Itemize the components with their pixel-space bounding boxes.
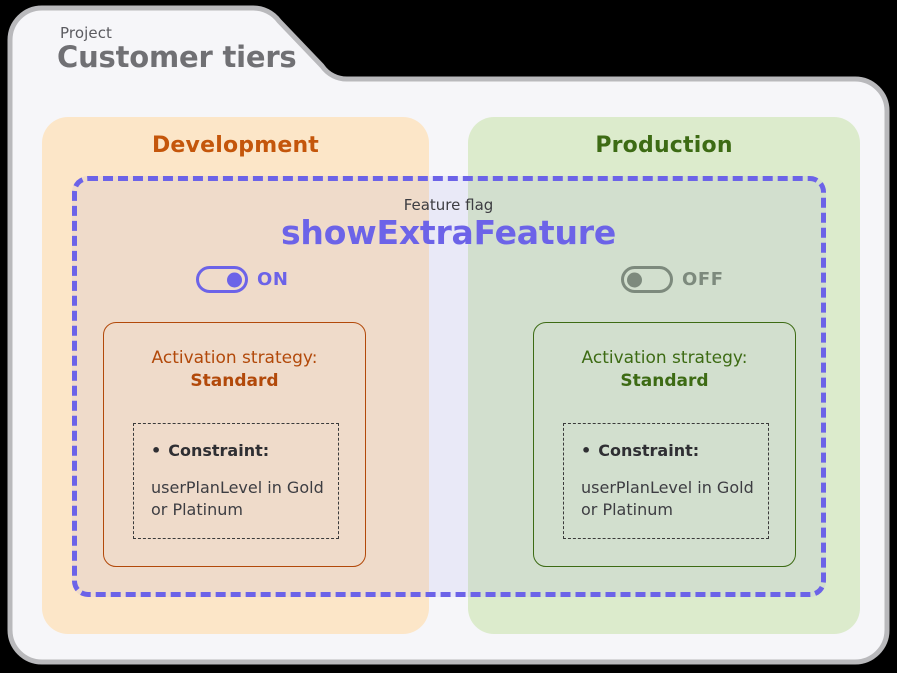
constraint-title-production: •Constraint: — [581, 441, 699, 460]
toggle-switch-on-icon[interactable] — [196, 266, 248, 293]
toggle-knob — [227, 272, 242, 287]
activation-strategy-production[interactable]: Activation strategy: Standard •Constrain… — [533, 322, 796, 567]
constraint-box-development: •Constraint: userPlanLevel in Gold or Pl… — [133, 423, 339, 539]
environment-title-development: Development — [42, 133, 429, 158]
activation-strategy-development[interactable]: Activation strategy: Standard •Constrain… — [103, 322, 366, 567]
constraint-label: Constraint: — [598, 441, 699, 460]
constraint-title-development: •Constraint: — [151, 441, 269, 460]
page-title: Customer tiers — [57, 40, 297, 74]
strategy-value: Standard — [620, 371, 708, 391]
strategy-heading-development: Activation strategy: Standard — [104, 347, 365, 393]
toggle-switch-off-icon[interactable] — [621, 266, 673, 293]
strategy-heading-label: Activation strategy: — [582, 348, 748, 368]
bullet-icon: • — [151, 441, 161, 460]
toggle-knob — [627, 272, 642, 287]
constraint-text-development: userPlanLevel in Gold or Platinum — [151, 477, 331, 521]
feature-toggle-development[interactable]: ON — [196, 266, 289, 293]
strategy-heading-label: Activation strategy: — [152, 348, 318, 368]
feature-flag-name: showExtraFeature — [0, 213, 897, 252]
toggle-label-development: ON — [257, 269, 289, 290]
constraint-label: Constraint: — [168, 441, 269, 460]
constraint-text-production: userPlanLevel in Gold or Platinum — [581, 477, 761, 521]
strategy-value: Standard — [190, 371, 278, 391]
diagram-canvas: Project Customer tiers Development Produ… — [0, 0, 897, 673]
constraint-box-production: •Constraint: userPlanLevel in Gold or Pl… — [563, 423, 769, 539]
bullet-icon: • — [581, 441, 591, 460]
environment-title-production: Production — [468, 133, 860, 158]
feature-flag-kicker: Feature flag — [0, 196, 897, 214]
feature-toggle-production[interactable]: OFF — [621, 266, 724, 293]
toggle-label-production: OFF — [682, 269, 724, 290]
strategy-heading-production: Activation strategy: Standard — [534, 347, 795, 393]
